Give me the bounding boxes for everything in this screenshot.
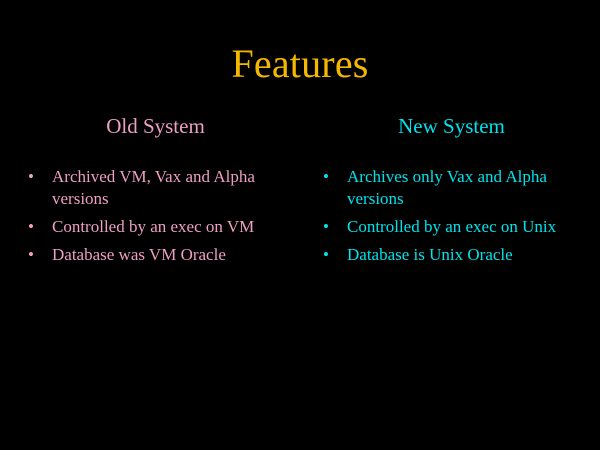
list-item-label: Database was VM Oracle — [52, 244, 301, 266]
list-item: • Database is Unix Oracle — [309, 244, 598, 266]
page-title: Features — [0, 41, 600, 87]
column-old-system: Old System • Archived VM, Vax and Alpha … — [8, 113, 303, 139]
bullet-dot-icon: • — [323, 244, 329, 266]
column-new-system: New System • Archives only Vax and Alpha… — [303, 113, 600, 139]
bullet-dot-icon: • — [28, 244, 34, 266]
list-item-label: Controlled by an exec on Unix — [347, 216, 598, 238]
bullet-dot-icon: • — [323, 166, 329, 188]
bullet-dot-icon: • — [28, 166, 34, 188]
list-item-label: Database is Unix Oracle — [347, 244, 598, 266]
bullet-list-old-system: • Archived VM, Vax and Alpha versions • … — [8, 166, 303, 272]
list-item-label: Archived VM, Vax and Alpha versions — [52, 166, 301, 210]
list-item: • Database was VM Oracle — [14, 244, 301, 266]
list-item: • Archived VM, Vax and Alpha versions — [14, 166, 301, 210]
column-heading-new-system: New System — [303, 113, 600, 139]
bullet-dot-icon: • — [323, 216, 329, 238]
bullet-list-new-system: • Archives only Vax and Alpha versions •… — [303, 166, 600, 272]
list-item: • Archives only Vax and Alpha versions — [309, 166, 598, 210]
list-item-label: Controlled by an exec on VM — [52, 216, 301, 238]
list-item: • Controlled by an exec on VM — [14, 216, 301, 238]
list-item-label: Archives only Vax and Alpha versions — [347, 166, 598, 210]
presentation-slide: Features Old System • Archived VM, Vax a… — [0, 0, 600, 450]
bullet-dot-icon: • — [28, 216, 34, 238]
list-item: • Controlled by an exec on Unix — [309, 216, 598, 238]
column-heading-old-system: Old System — [8, 113, 303, 139]
